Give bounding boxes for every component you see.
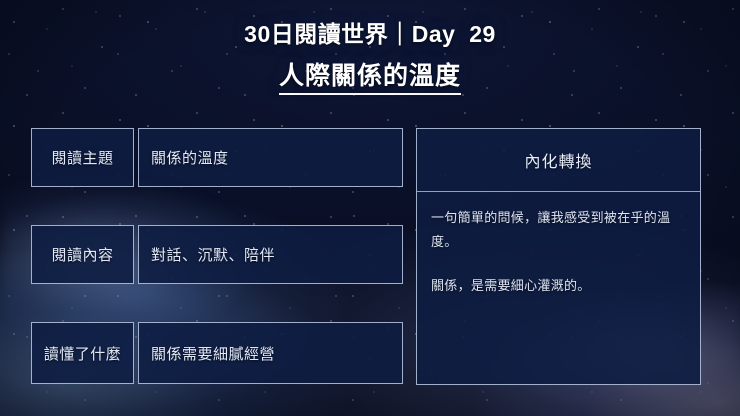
page-title: 30日閱讀世界｜Day 29 (0, 22, 740, 47)
table-row-value: 對話、沉默、陪伴 (138, 225, 403, 284)
table-row: 讀懂了什麼 關係需要細膩經營 (31, 322, 403, 384)
table-row-value: 關係需要細膩經營 (138, 322, 403, 384)
reading-summary-table: 閱讀主題 關係的溫度 閱讀內容 對話、沉默、陪伴 讀懂了什麼 關係需要細膩經營 (31, 128, 403, 384)
table-row-label: 閱讀主題 (31, 128, 134, 187)
table-row-label: 閱讀內容 (31, 225, 134, 284)
panel-body: 一句簡單的問候，讓我感受到被在乎的溫度。 關係，是需要細心灌溉的。 (417, 192, 700, 384)
panel-paragraph: 關係，是需要細心灌溉的。 (431, 274, 686, 298)
table-row: 閱讀內容 對話、沉默、陪伴 (31, 225, 403, 284)
panel-heading: 內化轉換 (417, 129, 700, 192)
slide-header: 30日閱讀世界｜Day 29 人際關係的溫度 (0, 22, 740, 95)
internalization-panel: 內化轉換 一句簡單的問候，讓我感受到被在乎的溫度。 關係，是需要細心灌溉的。 (416, 128, 701, 385)
slide-canvas: 30日閱讀世界｜Day 29 人際關係的溫度 閱讀主題 關係的溫度 閱讀內容 對… (0, 0, 740, 416)
table-row-label: 讀懂了什麼 (31, 322, 134, 384)
panel-paragraph: 一句簡單的問候，讓我感受到被在乎的溫度。 (431, 206, 686, 254)
table-row: 閱讀主題 關係的溫度 (31, 128, 403, 187)
page-subtitle-text: 人際關係的溫度 (279, 63, 461, 95)
page-subtitle: 人際關係的溫度 (0, 63, 740, 95)
table-row-value: 關係的溫度 (138, 128, 403, 187)
